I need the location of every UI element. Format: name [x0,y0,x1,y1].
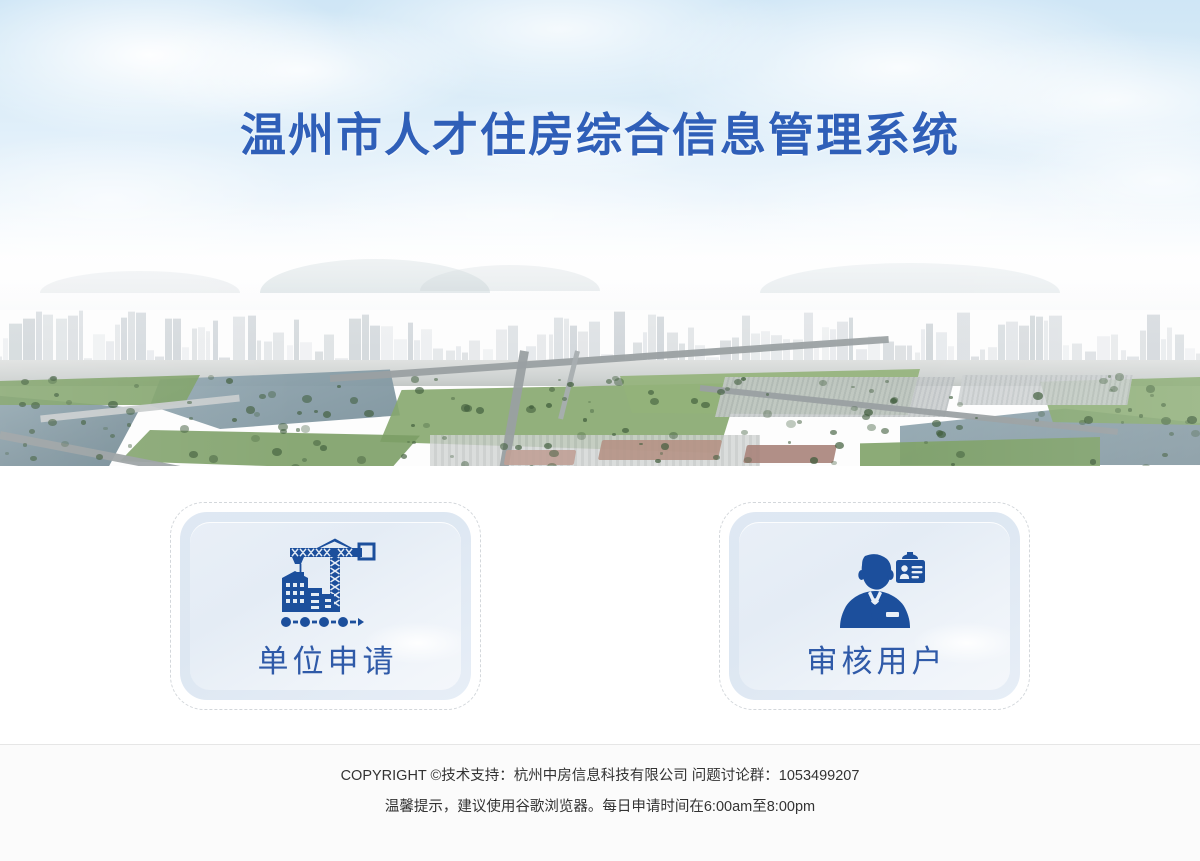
tree-shape [558,379,561,382]
tree-shape [622,428,628,433]
tree-shape [450,455,454,458]
tree-shape [259,394,265,399]
tree-shape [411,376,419,382]
tree-shape [1121,421,1125,424]
tree-shape [302,458,307,462]
tree-shape [788,441,791,444]
tree-shape [268,391,276,397]
tree-shape [612,376,619,381]
tree-shape [831,461,837,466]
tree-shape [313,440,321,446]
tree-shape [208,375,214,380]
building-roof [743,445,837,463]
tree-shape [957,402,963,407]
tree-shape [272,448,282,456]
tree-shape [669,432,678,439]
entry-card-row: 单位申请 [0,502,1200,710]
entry-card-review-user[interactable]: 审核用户 [719,502,1030,710]
tree-shape [31,402,40,409]
tree-shape [314,410,318,413]
tree-shape [924,441,928,444]
main-content: 单位申请 [0,466,1200,744]
tree-shape [423,423,430,428]
tree-shape [1115,373,1124,381]
tree-shape [128,444,133,448]
tree-shape [19,402,26,407]
building-roof [504,450,577,465]
tree-shape [725,387,730,391]
tree-shape [103,427,107,430]
tree-shape [50,376,57,381]
tree-shape [612,433,616,436]
footer-copyright-line: COPYRIGHT ©技术支持：杭州中房信息科技有限公司 问题讨论群：10534… [0,769,1200,785]
tree-shape [189,417,192,420]
tree-shape [1038,411,1045,417]
tree-shape [21,379,29,385]
tree-shape [1109,389,1113,392]
tree-shape [1033,392,1043,400]
tree-shape [583,418,587,422]
cityscape-photo [0,255,1200,466]
tree-shape [110,434,115,438]
tree-shape [1187,416,1196,424]
tree-shape [1150,394,1154,397]
building-roof [598,440,722,460]
tree-shape [302,395,312,403]
page-title: 温州市人才住房综合信息管理系统 [0,99,1200,165]
hero-banner: 温州市人才住房综合信息管理系统 [0,0,1200,466]
card-inner-panel: 审核用户 [739,522,1010,690]
tree-shape [515,445,522,450]
tree-shape [415,387,424,394]
tree-shape [451,397,454,400]
tree-shape [1079,420,1086,425]
tree-shape [442,436,447,440]
tree-shape [232,418,237,422]
businessman-id-badge-icon [823,538,927,630]
tree-shape [1108,375,1111,377]
construction-crane-building-icon [274,538,378,630]
tree-shape [1115,408,1120,412]
tree-shape [296,428,300,431]
tree-shape [546,403,552,408]
tree-shape [851,386,854,388]
tree-shape [691,398,698,403]
tree-shape [1191,430,1200,437]
tree-shape [1128,408,1132,411]
tree-shape [956,425,963,430]
tree-shape [476,407,484,414]
tree-shape [1090,459,1097,464]
tree-shape [412,441,416,444]
page-footer: COPYRIGHT ©技术支持：杭州中房信息科技有限公司 问题讨论群：10534… [0,744,1200,861]
tree-shape [350,397,358,403]
tree-shape [763,410,772,418]
tree-shape [786,420,796,428]
tree-shape [949,396,952,399]
tree-shape [1146,385,1155,392]
tree-shape [549,450,558,457]
tree-shape [797,420,802,424]
tree-shape [434,378,438,381]
tree-shape [226,378,234,384]
tree-shape [251,435,260,442]
tree-shape [464,405,472,411]
tree-shape [209,455,218,463]
tree-shape [411,424,415,427]
footer-notice-line: 温馨提示，建议使用谷歌浏览器。每日申请时间在6:00am至8:00pm [0,800,1200,816]
entry-card-label: 审核用户 [803,636,947,681]
tree-shape [864,409,873,416]
tree-shape [881,428,889,434]
entry-card-unit-application[interactable]: 单位申请 [170,502,481,710]
tree-shape [320,445,327,450]
tree-shape [606,379,612,384]
card-outer-panel: 单位申请 [180,512,471,700]
tree-shape [734,379,742,385]
tree-shape [364,410,373,417]
entry-card-label: 单位申请 [254,636,398,681]
tree-shape [323,411,331,418]
tree-shape [1161,403,1166,407]
tree-shape [337,385,341,388]
tree-shape [835,442,844,449]
tree-shape [588,401,591,404]
tree-shape [590,409,594,413]
tree-shape [744,457,752,463]
tree-shape [936,430,943,436]
tree-shape [301,425,310,432]
card-inner-panel: 单位申请 [190,522,461,690]
park-greenery [120,430,420,466]
tree-shape [1169,432,1174,436]
page-root: 温州市人才住房综合信息管理系统 [0,0,1200,861]
tree-shape [278,423,288,431]
tree-shape [562,397,567,401]
tree-shape [127,423,131,427]
tree-shape [701,402,709,409]
tree-shape [867,424,875,431]
tree-shape [830,430,837,436]
tree-shape [766,393,769,396]
tree-shape [189,451,197,458]
park-greenery [860,437,1100,466]
tree-shape [401,454,407,459]
tree-shape [885,380,889,383]
tree-shape [108,401,117,408]
tree-shape [81,420,87,425]
card-outer-panel: 审核用户 [729,512,1020,700]
